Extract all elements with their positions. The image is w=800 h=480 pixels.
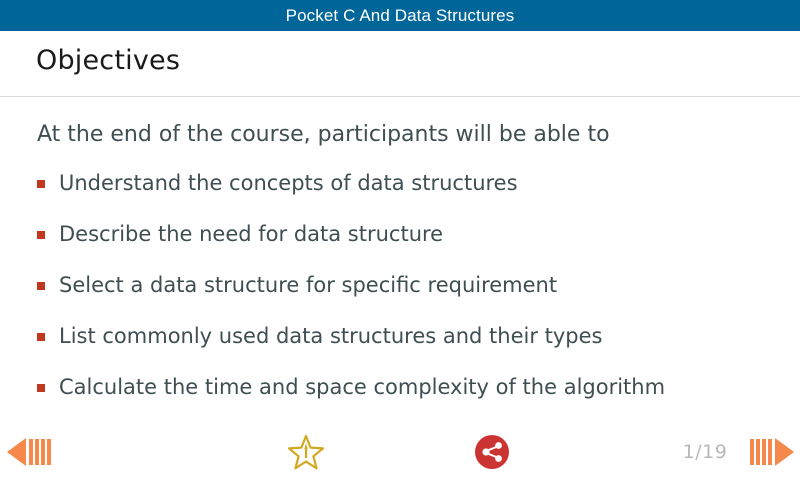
share-button[interactable]	[462, 424, 522, 480]
app-screen: Pocket C And Data Structures Objectives …	[0, 0, 800, 480]
slide-heading: Objectives	[36, 44, 180, 78]
square-bullet-icon	[37, 231, 45, 239]
list-item-label: Select a data structure for specific req…	[59, 272, 557, 298]
square-bullet-icon	[37, 180, 45, 188]
objectives-list: Understand the concepts of data structur…	[0, 170, 800, 425]
slide-intro-text: At the end of the course, participants w…	[37, 122, 610, 148]
next-slide-icon	[747, 432, 797, 472]
list-item-label: Describe the need for data structure	[59, 221, 443, 247]
app-title: Pocket C And Data Structures	[286, 7, 515, 24]
list-item: Select a data structure for specific req…	[0, 272, 800, 323]
list-item: Calculate the time and space complexity …	[0, 374, 800, 425]
slide-content: At the end of the course, participants w…	[0, 104, 800, 416]
list-item: Understand the concepts of data structur…	[0, 170, 800, 221]
share-icon	[472, 432, 512, 472]
previous-slide-icon	[4, 432, 54, 472]
favorite-button[interactable]	[276, 424, 336, 480]
square-bullet-icon	[37, 333, 45, 341]
favorite-star-icon	[286, 432, 326, 472]
list-item-label: Understand the concepts of data structur…	[59, 170, 518, 196]
list-item: Describe the need for data structure	[0, 221, 800, 272]
bottom-toolbar: 1/19	[0, 424, 800, 480]
heading-divider	[0, 96, 800, 97]
list-item: List commonly used data structures and t…	[0, 323, 800, 374]
previous-slide-button[interactable]	[0, 424, 58, 480]
title-bar: Pocket C And Data Structures	[0, 0, 800, 31]
list-item-label: List commonly used data structures and t…	[59, 323, 603, 349]
list-item-label: Calculate the time and space complexity …	[59, 374, 665, 400]
next-slide-button[interactable]	[744, 424, 800, 480]
page-indicator: 1/19	[672, 424, 738, 480]
square-bullet-icon	[37, 282, 45, 290]
square-bullet-icon	[37, 384, 45, 392]
